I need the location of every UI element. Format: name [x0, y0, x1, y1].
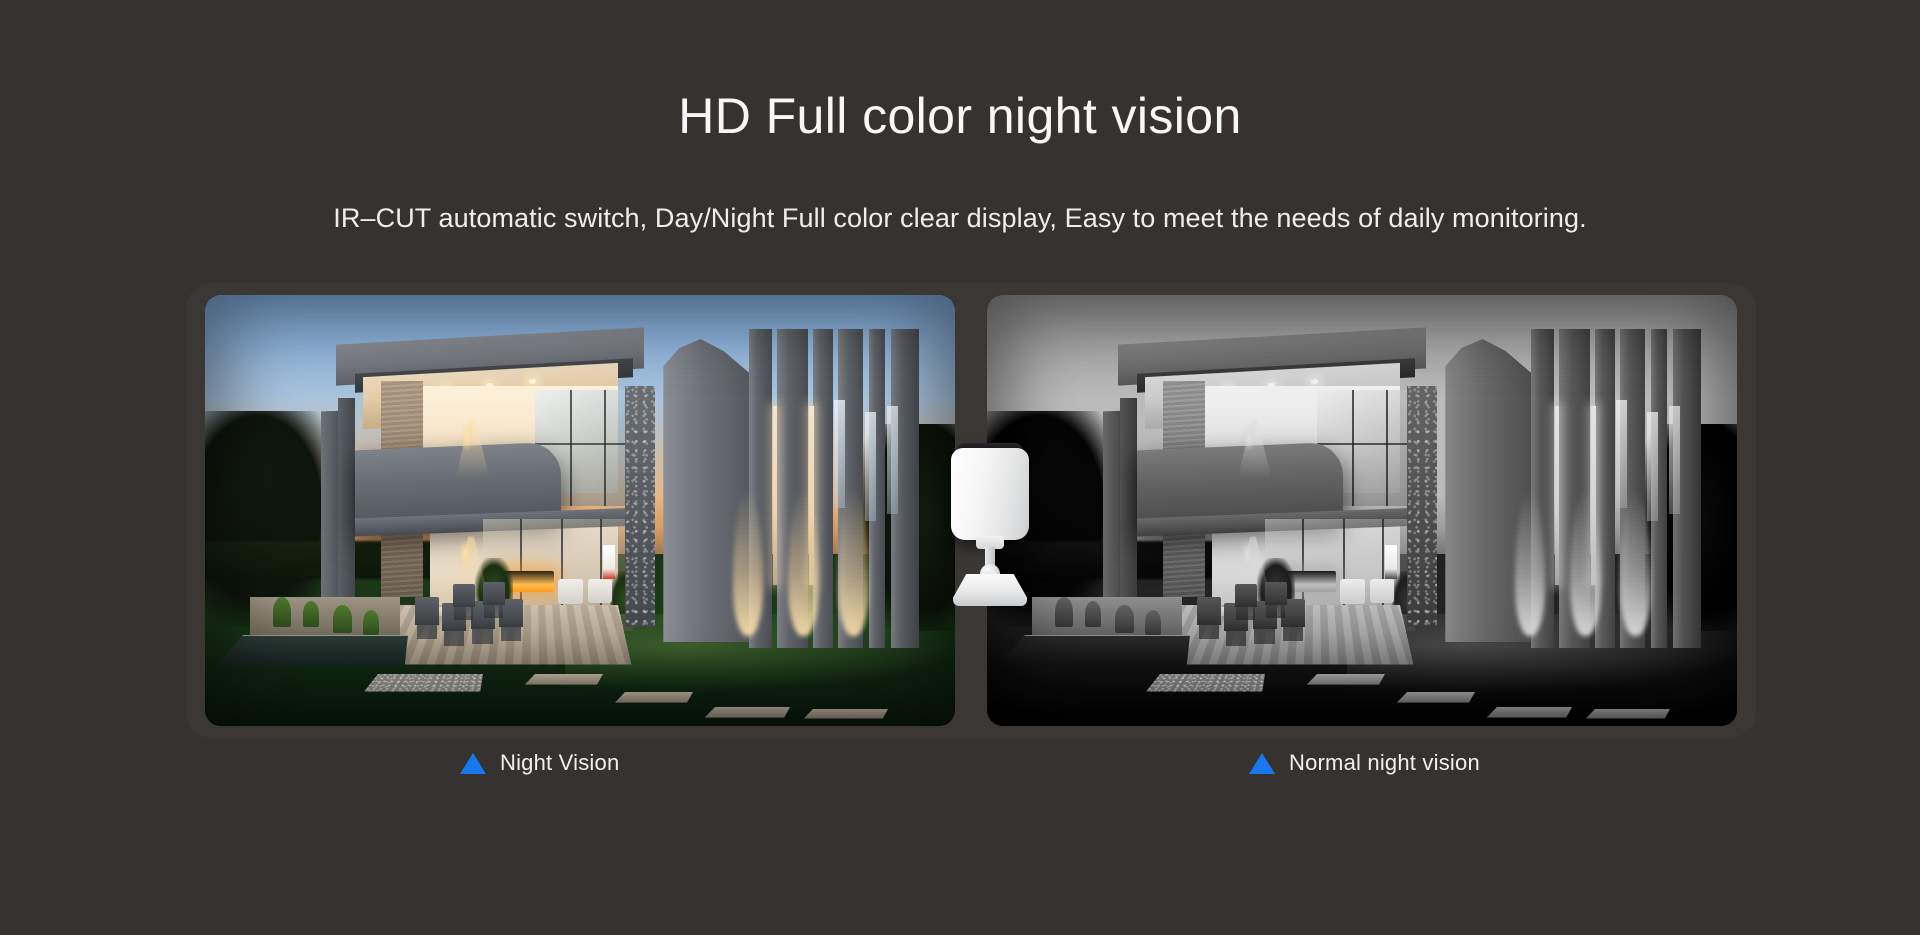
stepping-stone [1307, 674, 1385, 685]
night-vision-feature-section: HD Full color night vision IR–CUT automa… [0, 0, 1920, 935]
fin-wall-assembly [655, 329, 933, 648]
perforated-screen-panel [1407, 386, 1437, 627]
grass-tuft [1115, 605, 1134, 633]
fin-wall-assembly [1437, 329, 1715, 648]
page-title: HD Full color night vision [0, 88, 1920, 146]
grass-tuft [1055, 597, 1073, 627]
stepping-stone [803, 709, 887, 719]
left-pier-secondary [1120, 398, 1137, 622]
wall-sconce [460, 541, 470, 567]
fin-window [1647, 412, 1658, 520]
caption-normal-night-vision: Normal night vision [1249, 750, 1480, 776]
grass-tuft [1085, 601, 1102, 627]
page-subtitle: IR–CUT automatic switch, Day/Night Full … [0, 203, 1920, 234]
fin-window [1669, 406, 1680, 514]
triangle-up-icon [460, 753, 486, 774]
camera-base-mount [953, 574, 1027, 606]
grass-tuft [363, 610, 380, 636]
patio-chair [453, 584, 476, 608]
wall-sconce [1242, 541, 1252, 567]
stepping-stone [1397, 692, 1475, 703]
downlight [529, 379, 536, 384]
patio-chair [483, 582, 506, 606]
mullion [604, 390, 606, 506]
patio-chair [1197, 597, 1221, 625]
fin-window [887, 406, 898, 514]
downlight [1311, 379, 1318, 384]
grass-tuft [1145, 610, 1162, 636]
night-vision-color-image [205, 295, 955, 726]
normal-night-vision-image [987, 295, 1737, 726]
lounge-chair [558, 579, 584, 603]
fin-window [834, 400, 845, 508]
patio-chair [415, 597, 439, 625]
comparison-card [186, 283, 1756, 738]
perforated-screen-panel [625, 386, 655, 627]
gravel-strip [363, 674, 482, 692]
mullion [570, 390, 572, 506]
lounge-chair [1370, 579, 1394, 602]
mullion [1386, 390, 1388, 506]
caption-label: Night Vision [500, 750, 619, 776]
wall-sconce [1244, 424, 1254, 450]
lounge-chair [1340, 579, 1366, 603]
patio-chair [1235, 584, 1258, 608]
caption-night-vision: Night Vision [460, 750, 619, 776]
gravel-strip [1145, 674, 1264, 692]
lounge-chair [588, 579, 612, 602]
wall-sconce [462, 424, 472, 450]
stepping-stone [525, 674, 603, 685]
lit-slot-window [1555, 406, 1559, 585]
stepping-stone [704, 707, 790, 718]
grass-tuft [303, 601, 320, 627]
camera-body [951, 448, 1029, 540]
reflecting-pool [997, 635, 1190, 666]
patio-chair [1265, 582, 1288, 606]
security-camera-device [947, 448, 1033, 608]
pane-captions: Night Vision Normal night vision [0, 750, 1920, 790]
lit-slot-window [773, 406, 777, 585]
stepping-stone [1585, 709, 1669, 719]
grass-tuft [273, 597, 291, 627]
fin-window [1616, 400, 1627, 508]
villa-scene-color [205, 295, 955, 726]
triangle-up-icon [1249, 753, 1275, 774]
stepping-stone [1486, 707, 1572, 718]
fin-window [865, 412, 876, 520]
stepping-stone [615, 692, 693, 703]
left-pier-secondary [338, 398, 355, 622]
caption-label: Normal night vision [1289, 750, 1480, 776]
reflecting-pool [215, 635, 408, 666]
comparison-panes [186, 283, 1756, 738]
grass-tuft [333, 605, 352, 633]
mullion [1352, 390, 1354, 506]
villa-scene-monochrome [987, 295, 1737, 726]
